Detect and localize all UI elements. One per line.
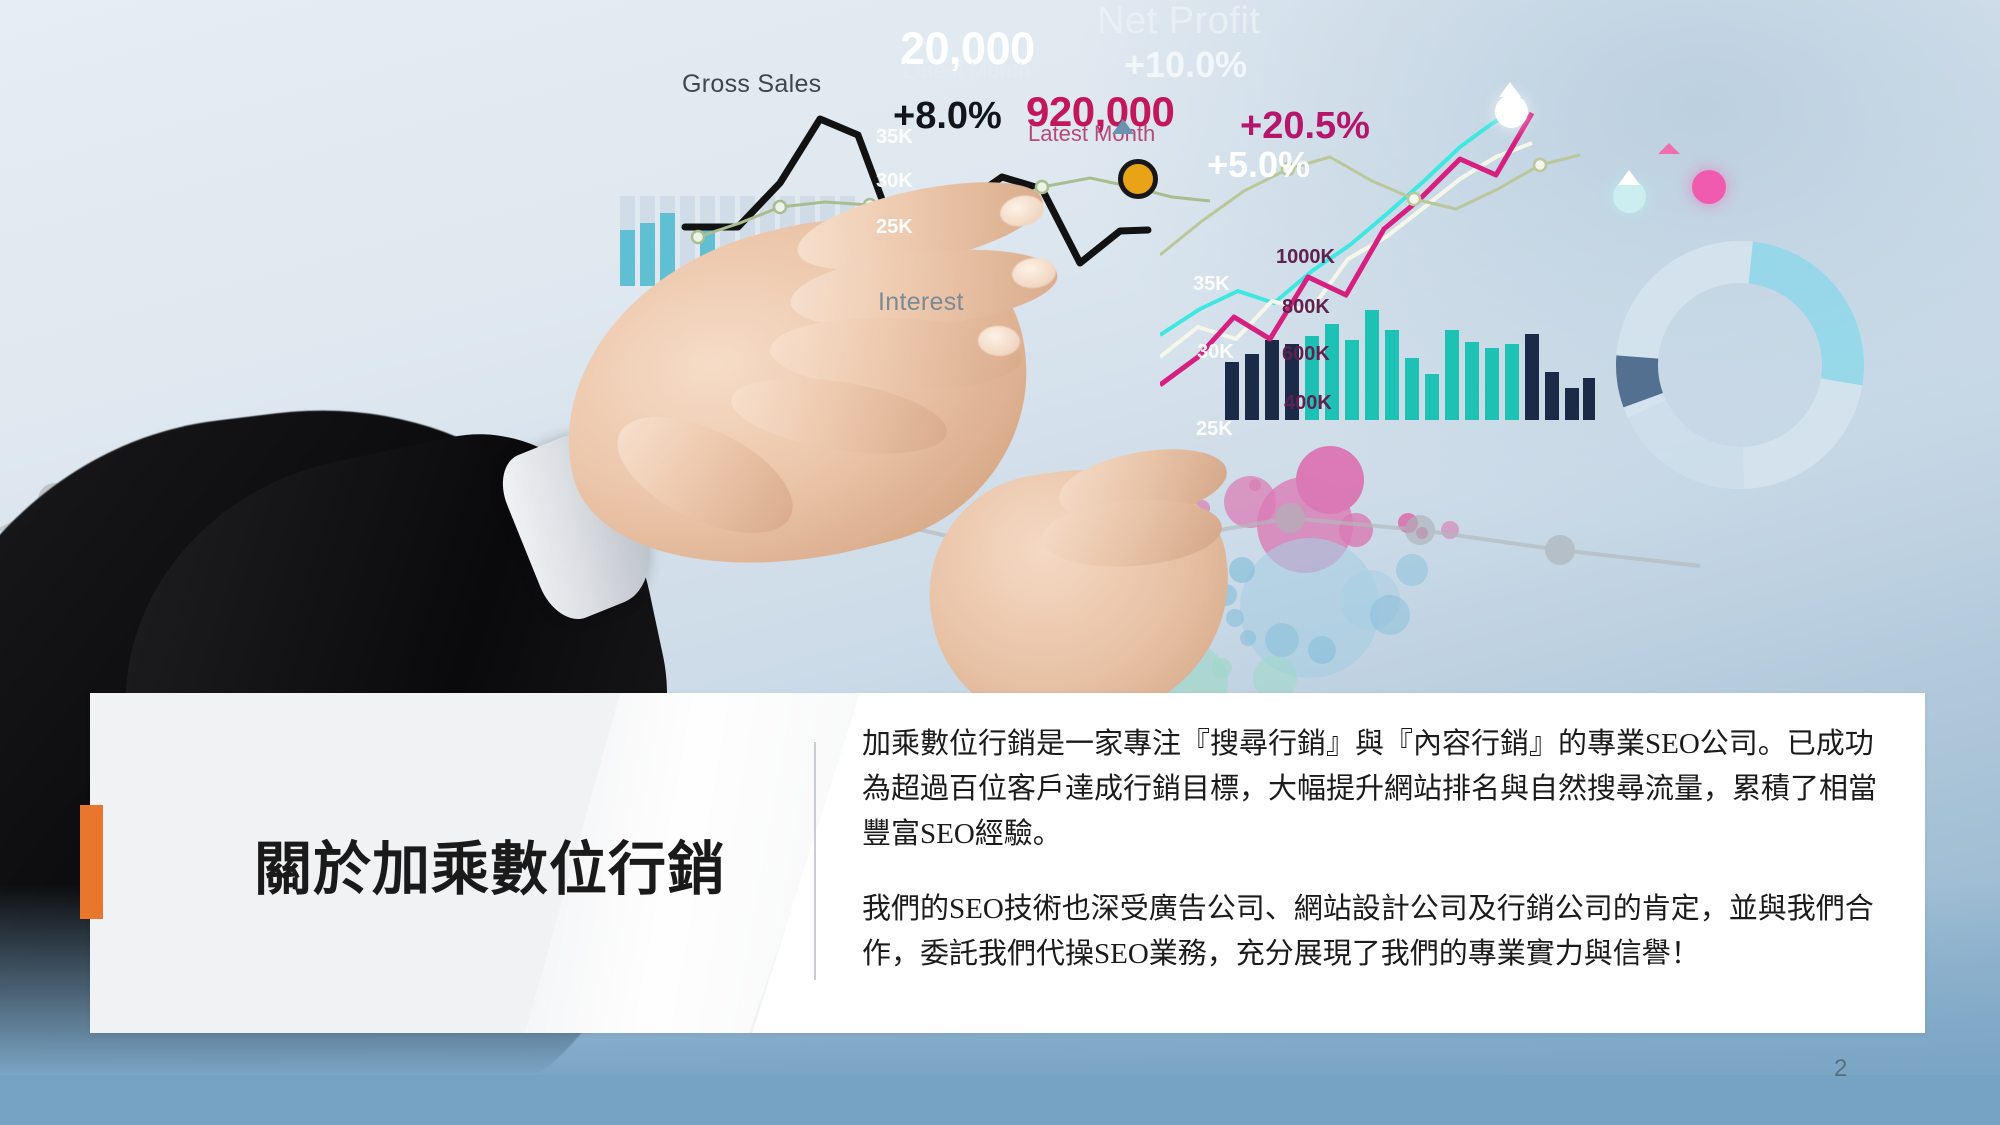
axis-tick-right-2: 600K [1282,343,1330,366]
axis-tick-right-3: 400K [1284,392,1332,415]
hero-label-gross-sales: Gross Sales [682,70,821,99]
hero-metric-delta-205: +20.5% [1240,105,1370,148]
axis-tick-right-1: 800K [1282,296,1330,319]
page-title: 關於加乘數位行銷 [180,837,800,904]
hero-label-net-profit: Net Profit [1097,0,1260,43]
data-point-marker-orange [1118,159,1158,199]
hero-metric-net-profit-sub: Latest Month [1028,121,1155,147]
data-point-marker-magenta [1692,170,1726,204]
trend-up-triangle-pink [1658,143,1680,154]
axis-tick-mid-1: 30K [1197,341,1234,364]
hero-label-interest: Interest [878,288,964,317]
axis-tick-left-2: 25K [876,216,913,239]
body-text-column: 加乘數位行銷是一家專注『搜尋行銷』與『內容行銷』的專業SEO公司。已成功為超過百… [862,722,1892,977]
trend-up-triangle-blue [1112,119,1134,134]
vertical-divider [814,742,816,980]
axis-tick-left-0: 35K [876,126,913,149]
body-paragraph-1: 加乘數位行銷是一家專注『搜尋行銷』與『內容行銷』的專業SEO公司。已成功為超過百… [862,722,1892,857]
slide-root: Gross Sales Interest Net Profit 20,000 L… [0,0,2000,1125]
trend-up-triangle-white [1618,170,1640,185]
hero-metric-delta-50: +5.0% [1207,144,1310,186]
axis-tick-mid-2: 25K [1196,418,1233,441]
axis-tick-left-1: 30K [876,170,913,193]
data-point-marker-white [1495,95,1528,128]
hero-metric-gross-sales-sub: Latest Month [903,58,1030,84]
axis-tick-mid-0: 35K [1193,273,1230,296]
title-accent-bar [80,805,103,919]
body-paragraph-2: 我們的SEO技術也深受廣告公司、網站設計公司及行銷公司的肯定，並與我們合作，委託… [862,887,1892,977]
page-number: 2 [1834,1055,1847,1083]
trend-up-triangle-white [1499,82,1521,97]
axis-tick-right-0: 1000K [1276,246,1335,269]
hero-metric-net-profit-delta: +10.0% [1124,44,1247,86]
